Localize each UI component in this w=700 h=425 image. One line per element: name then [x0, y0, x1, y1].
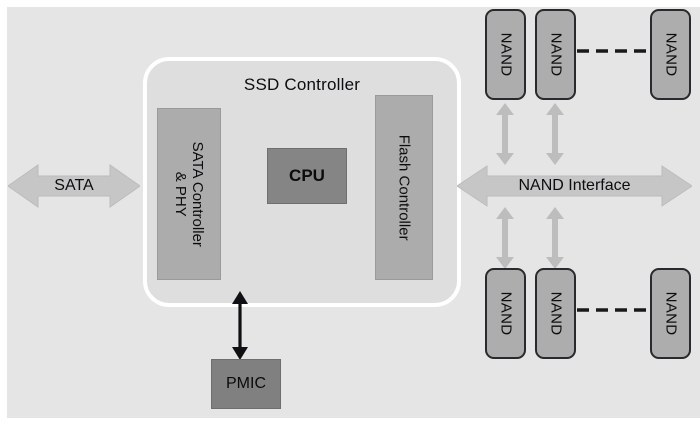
nand-chip-label: NAND [547, 33, 564, 77]
nand-connector-arrow-bottom-1 [496, 207, 514, 269]
ssd-block-diagram: SATA SSD Controller SATA Controller & PH… [0, 0, 700, 425]
nand-chip-label: NAND [547, 292, 564, 336]
nand-chip-top-2: NAND [535, 9, 576, 100]
nand-connector-arrow-bottom-2 [546, 207, 564, 269]
block-pmic: PMIC [211, 359, 281, 409]
block-flash-controller-label: Flash Controller [395, 135, 412, 241]
sata-interface-arrow: SATA [8, 163, 140, 209]
dashed-line-icon [577, 307, 649, 313]
block-pmic-label: PMIC [226, 375, 266, 393]
nand-connector-arrow-top-2 [546, 103, 564, 165]
nand-chip-top-3: NAND [650, 9, 691, 100]
nand-continuation-dashes-top [577, 48, 649, 54]
ssd-controller-title: SSD Controller [147, 75, 457, 95]
vertical-double-arrow-icon [496, 207, 514, 269]
nand-chip-top-1: NAND [485, 9, 526, 100]
nand-chip-label: NAND [497, 33, 514, 77]
nand-connector-arrow-top-1 [496, 103, 514, 165]
vertical-double-arrow-icon [546, 207, 564, 269]
block-cpu-label: CPU [289, 166, 325, 186]
nand-chip-bottom-3: NAND [650, 268, 691, 359]
nand-chip-label: NAND [497, 292, 514, 336]
nand-chip-bottom-2: NAND [535, 268, 576, 359]
nand-continuation-dashes-bottom [577, 307, 649, 313]
vertical-double-arrow-icon [546, 103, 564, 165]
nand-interface-label: NAND Interface [518, 177, 630, 195]
nand-chip-label: NAND [662, 292, 679, 336]
block-flash-controller: Flash Controller [375, 95, 433, 280]
sata-label: SATA [54, 177, 93, 195]
vertical-double-arrow-icon [496, 103, 514, 165]
vertical-double-arrow-icon [230, 291, 250, 360]
block-cpu: CPU [267, 148, 347, 204]
nand-chip-label: NAND [662, 33, 679, 77]
nand-interface-arrow: NAND Interface [457, 164, 692, 208]
nand-chip-bottom-1: NAND [485, 268, 526, 359]
pmic-connector-arrow [230, 291, 250, 360]
block-sata-controller-phy-label: SATA Controller & PHY [172, 141, 207, 246]
dashed-line-icon [577, 48, 649, 54]
block-sata-controller-phy: SATA Controller & PHY [157, 108, 221, 280]
